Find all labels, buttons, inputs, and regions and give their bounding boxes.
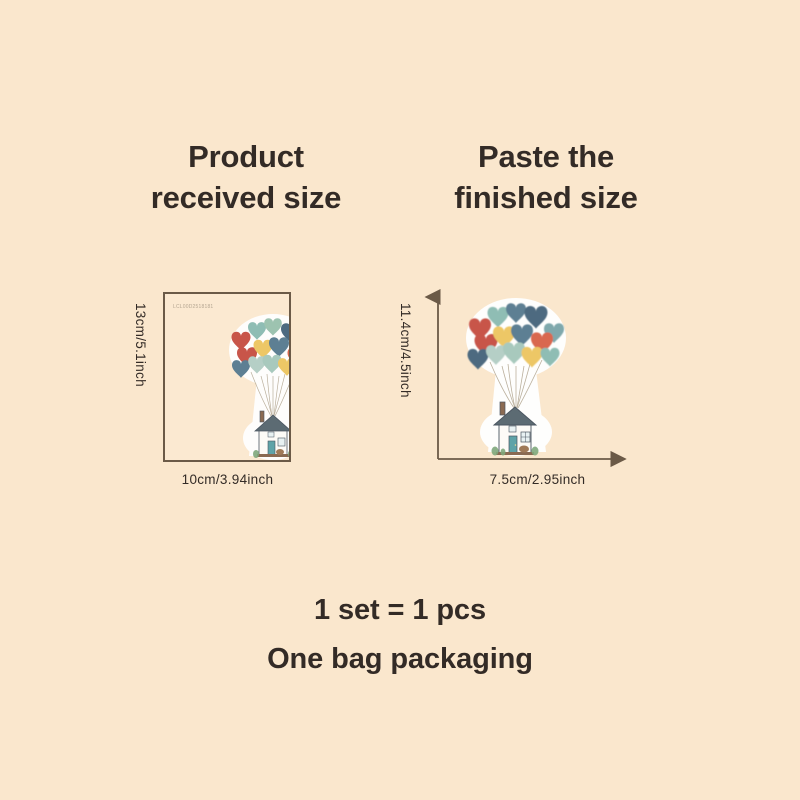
dimension-label-height-finished: 11.4cm/4.5inch	[398, 303, 413, 398]
dimension-label-width-finished: 7.5cm/2.95inch	[430, 472, 645, 487]
balloon-house-illustration	[217, 306, 291, 462]
dimension-label-height-received: 13cm/5.1inch	[133, 303, 148, 387]
infographic-canvas: Product received size Paste the finished…	[0, 0, 800, 800]
product-sheet-frame: LCL00D2518181	[163, 292, 291, 462]
section-heading-finished-size: Paste the finished size	[396, 137, 696, 219]
balloon-house-illustration-large	[450, 290, 580, 462]
panel-product-received-size: 13cm/5.1inch LCL00D2518181	[120, 285, 320, 500]
product-code-watermark: LCL00D2518181	[173, 304, 213, 310]
section-heading-received-size: Product received size	[96, 137, 396, 219]
sticker-artwork-finished	[450, 290, 580, 462]
sticker-artwork-received	[217, 306, 291, 462]
footer-set-quantity: 1 set = 1 pcs	[0, 594, 800, 627]
panel-paste-finished-size: 11.4cm/4.5inch	[400, 285, 640, 500]
dimension-label-width-received: 10cm/3.94inch	[120, 472, 335, 487]
footer-packaging-note: One bag packaging	[0, 643, 800, 676]
